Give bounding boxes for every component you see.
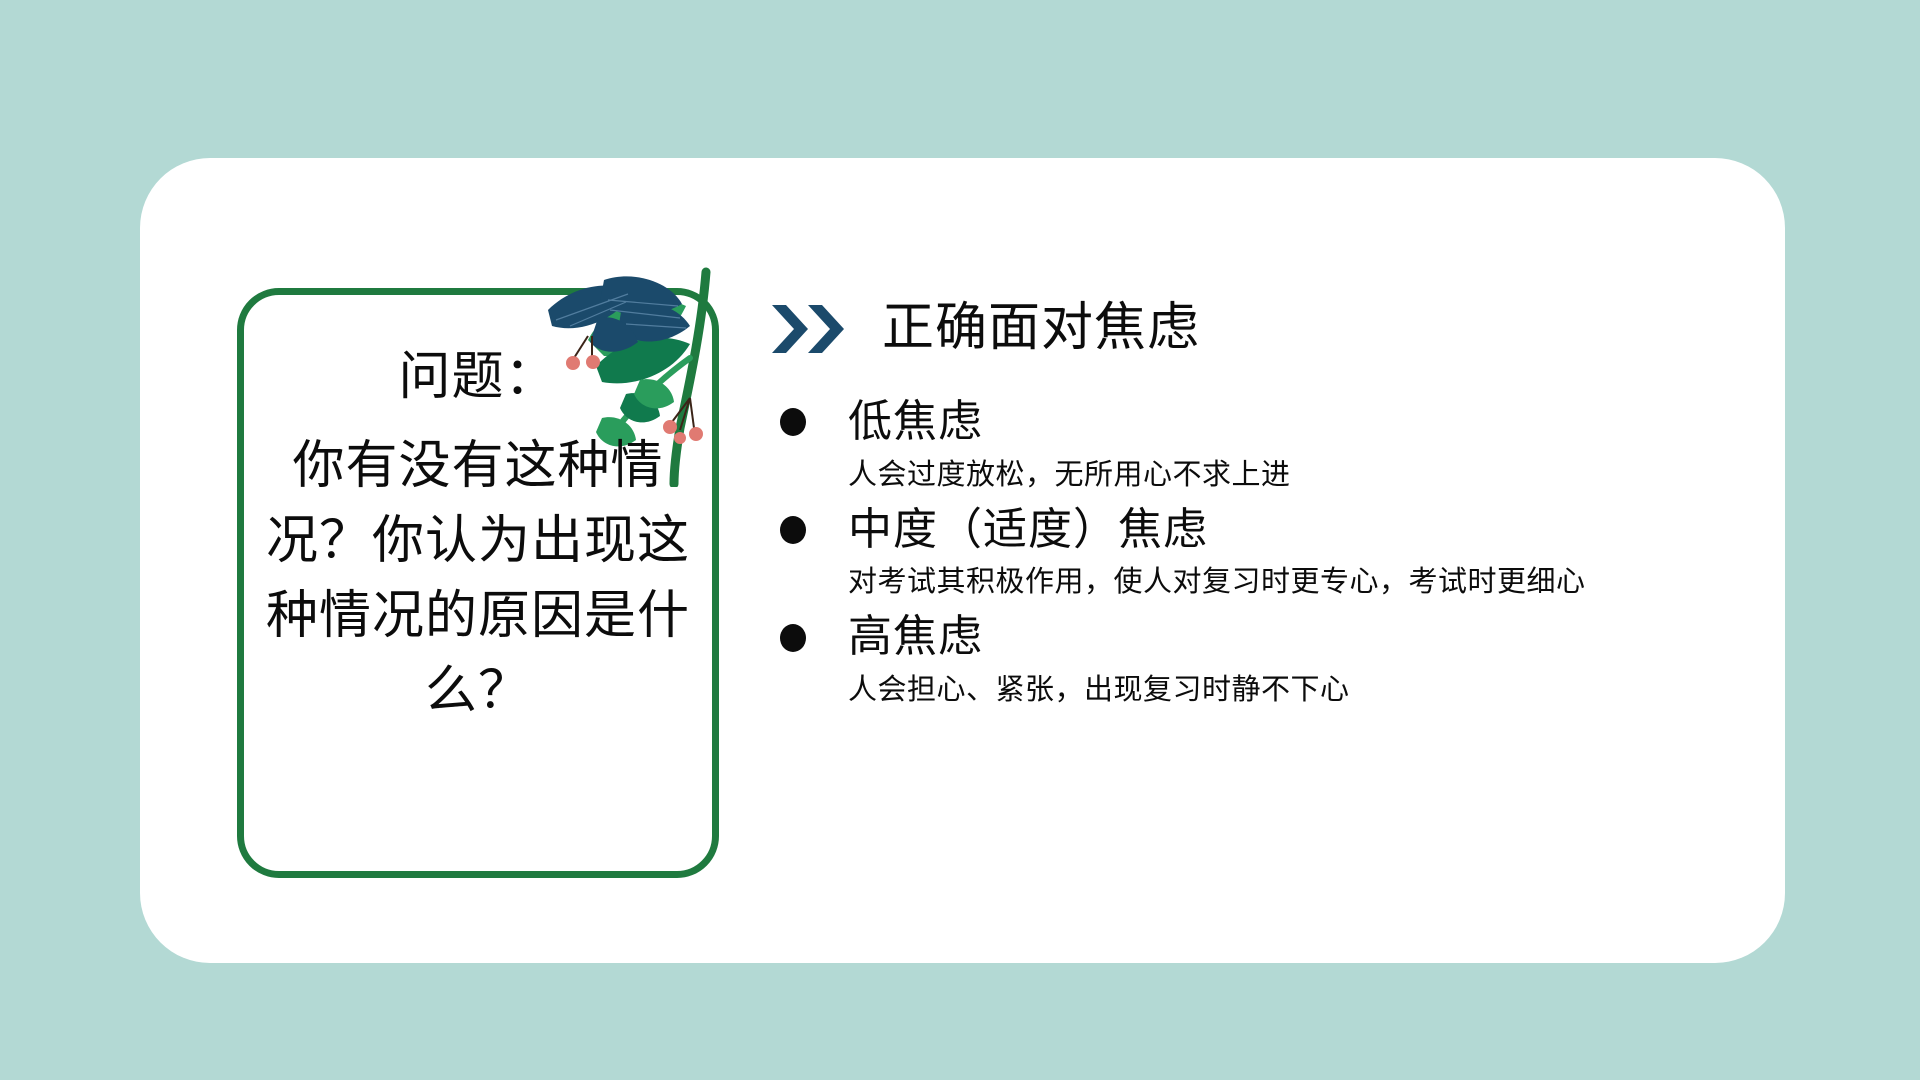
list-item: 中度（适度）焦虑 对考试其积极作用，使人对复习时更专心，考试时更细心 bbox=[770, 505, 1730, 607]
question-body: 你有没有这种情况？你认为出现这种情况的原因是什么？ bbox=[259, 429, 697, 729]
right-content-column: 正确面对焦虑 低焦虑 人会过度放松，无所用心不求上进 中度（适度）焦虑 对考试其… bbox=[770, 300, 1730, 720]
double-chevron-right-icon bbox=[770, 303, 848, 355]
question-text: 问题： 你有没有这种情况？你认为出现这种情况的原因是什么？ bbox=[237, 340, 719, 728]
bullet-dot-icon bbox=[780, 624, 806, 652]
question-lead: 问题： bbox=[259, 340, 697, 415]
bullet-description: 人会过度放松，无所用心不求上进 bbox=[848, 452, 1728, 499]
section-heading: 正确面对焦虑 bbox=[770, 300, 1730, 357]
list-item: 低焦虑 人会过度放松，无所用心不求上进 bbox=[770, 397, 1730, 499]
bullet-description: 对考试其积极作用，使人对复习时更专心，考试时更细心 bbox=[848, 559, 1728, 606]
bullet-label: 低焦虑 bbox=[848, 397, 983, 448]
bullet-description: 人会担心、紧张，出现复习时静不下心 bbox=[848, 667, 1728, 714]
list-item: 高焦虑 人会担心、紧张，出现复习时静不下心 bbox=[770, 612, 1730, 714]
anxiety-level-list: 低焦虑 人会过度放松，无所用心不求上进 中度（适度）焦虑 对考试其积极作用，使人… bbox=[770, 397, 1730, 714]
bullet-heading-row: 低焦虑 bbox=[770, 397, 1730, 448]
bullet-label: 中度（适度）焦虑 bbox=[848, 505, 1208, 556]
bullet-label: 高焦虑 bbox=[848, 612, 983, 663]
bullet-heading-row: 高焦虑 bbox=[770, 612, 1730, 663]
bullet-dot-icon bbox=[780, 408, 806, 436]
section-heading-title: 正确面对焦虑 bbox=[882, 300, 1200, 357]
bullet-dot-icon bbox=[780, 516, 806, 544]
bullet-heading-row: 中度（适度）焦虑 bbox=[770, 505, 1730, 556]
slide-canvas: 问题： 你有没有这种情况？你认为出现这种情况的原因是什么？ bbox=[0, 0, 1920, 1080]
